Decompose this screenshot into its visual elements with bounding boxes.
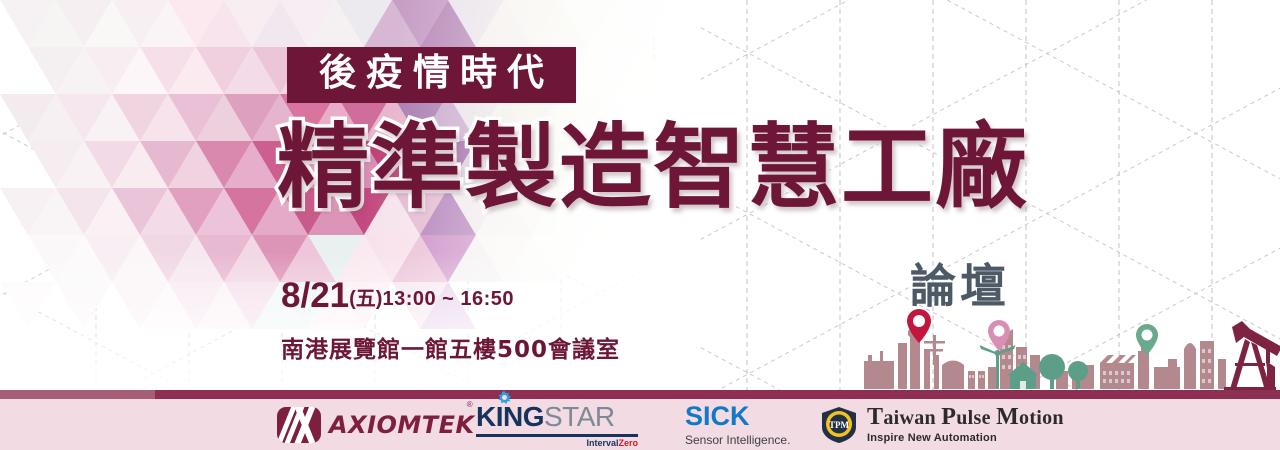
registered-trademark-icon: ®: [467, 400, 473, 409]
axiomtek-mark-icon: [277, 407, 321, 443]
tpm-name-t: T: [867, 404, 883, 430]
page-title: 精準製造智慧工廠: [277, 118, 1029, 217]
tpm-name-ulse: ulse: [956, 407, 996, 429]
event-date: 8/21: [281, 276, 349, 315]
event-weekday: (五): [349, 288, 382, 310]
tpm-name-otion: otion: [1019, 407, 1064, 429]
tpm-name: Taiwan Pulse Motion: [867, 405, 1064, 430]
divider-segment-right: [155, 390, 1280, 399]
tpm-name-aiwan: aiwan: [883, 407, 941, 429]
banner-content: 後疫情時代 精準製造智慧工廠 論壇 8/21(五)13:00 ~ 16:50 南…: [0, 0, 1280, 390]
kingstar-underline: [476, 434, 638, 437]
divider-segment-left: [0, 390, 155, 399]
tpm-shield-icon: TPM: [820, 406, 858, 444]
event-venue: 南港展覽館一館五樓500會議室: [281, 330, 620, 364]
tpm-text-block: Taiwan Pulse Motion Inspire New Automati…: [867, 405, 1064, 444]
sick-tagline: Sensor Intelligence.: [685, 433, 790, 447]
sponsor-footer: ® AXIOMTEK KING STAR IntervalZero SICK S…: [0, 399, 1280, 450]
kingstar-word-bold: KING: [476, 401, 544, 433]
sick-wordmark: SICK: [685, 403, 750, 430]
event-banner: 後疫情時代 精準製造智慧工廠 論壇 8/21(五)13:00 ~ 16:50 南…: [0, 0, 1280, 450]
sponsor-logo-tpm[interactable]: TPM Taiwan Pulse Motion Inspire New Auto…: [820, 399, 1064, 450]
sponsor-logo-axiomtek[interactable]: ® AXIOMTEK: [277, 399, 475, 450]
intervalzero-interval: Interval: [586, 438, 618, 448]
tpm-name-p: P: [941, 404, 956, 430]
sponsor-logo-sick[interactable]: SICK Sensor Intelligence.: [685, 399, 790, 450]
tpm-name-m: M: [996, 404, 1019, 430]
kingstar-word-light: STAR: [544, 401, 615, 433]
footer-divider: [0, 390, 1280, 399]
sponsor-logo-kingstar[interactable]: KING STAR IntervalZero: [476, 399, 638, 450]
event-time-range: 13:00 ~ 16:50: [382, 288, 514, 310]
tpm-tagline: Inspire New Automation: [867, 432, 1064, 444]
forum-subtitle: 論壇: [910, 250, 1010, 316]
intervalzero-zero: Zero: [618, 438, 638, 448]
kingstar-tagline: IntervalZero: [586, 438, 638, 448]
svg-text:TPM: TPM: [829, 420, 850, 430]
axiomtek-wordmark: AXIOMTEK: [329, 411, 475, 439]
event-datetime: 8/21(五)13:00 ~ 16:50: [281, 276, 514, 316]
kingstar-wordmark: KING STAR: [476, 401, 615, 433]
era-badge: 後疫情時代: [287, 47, 576, 103]
